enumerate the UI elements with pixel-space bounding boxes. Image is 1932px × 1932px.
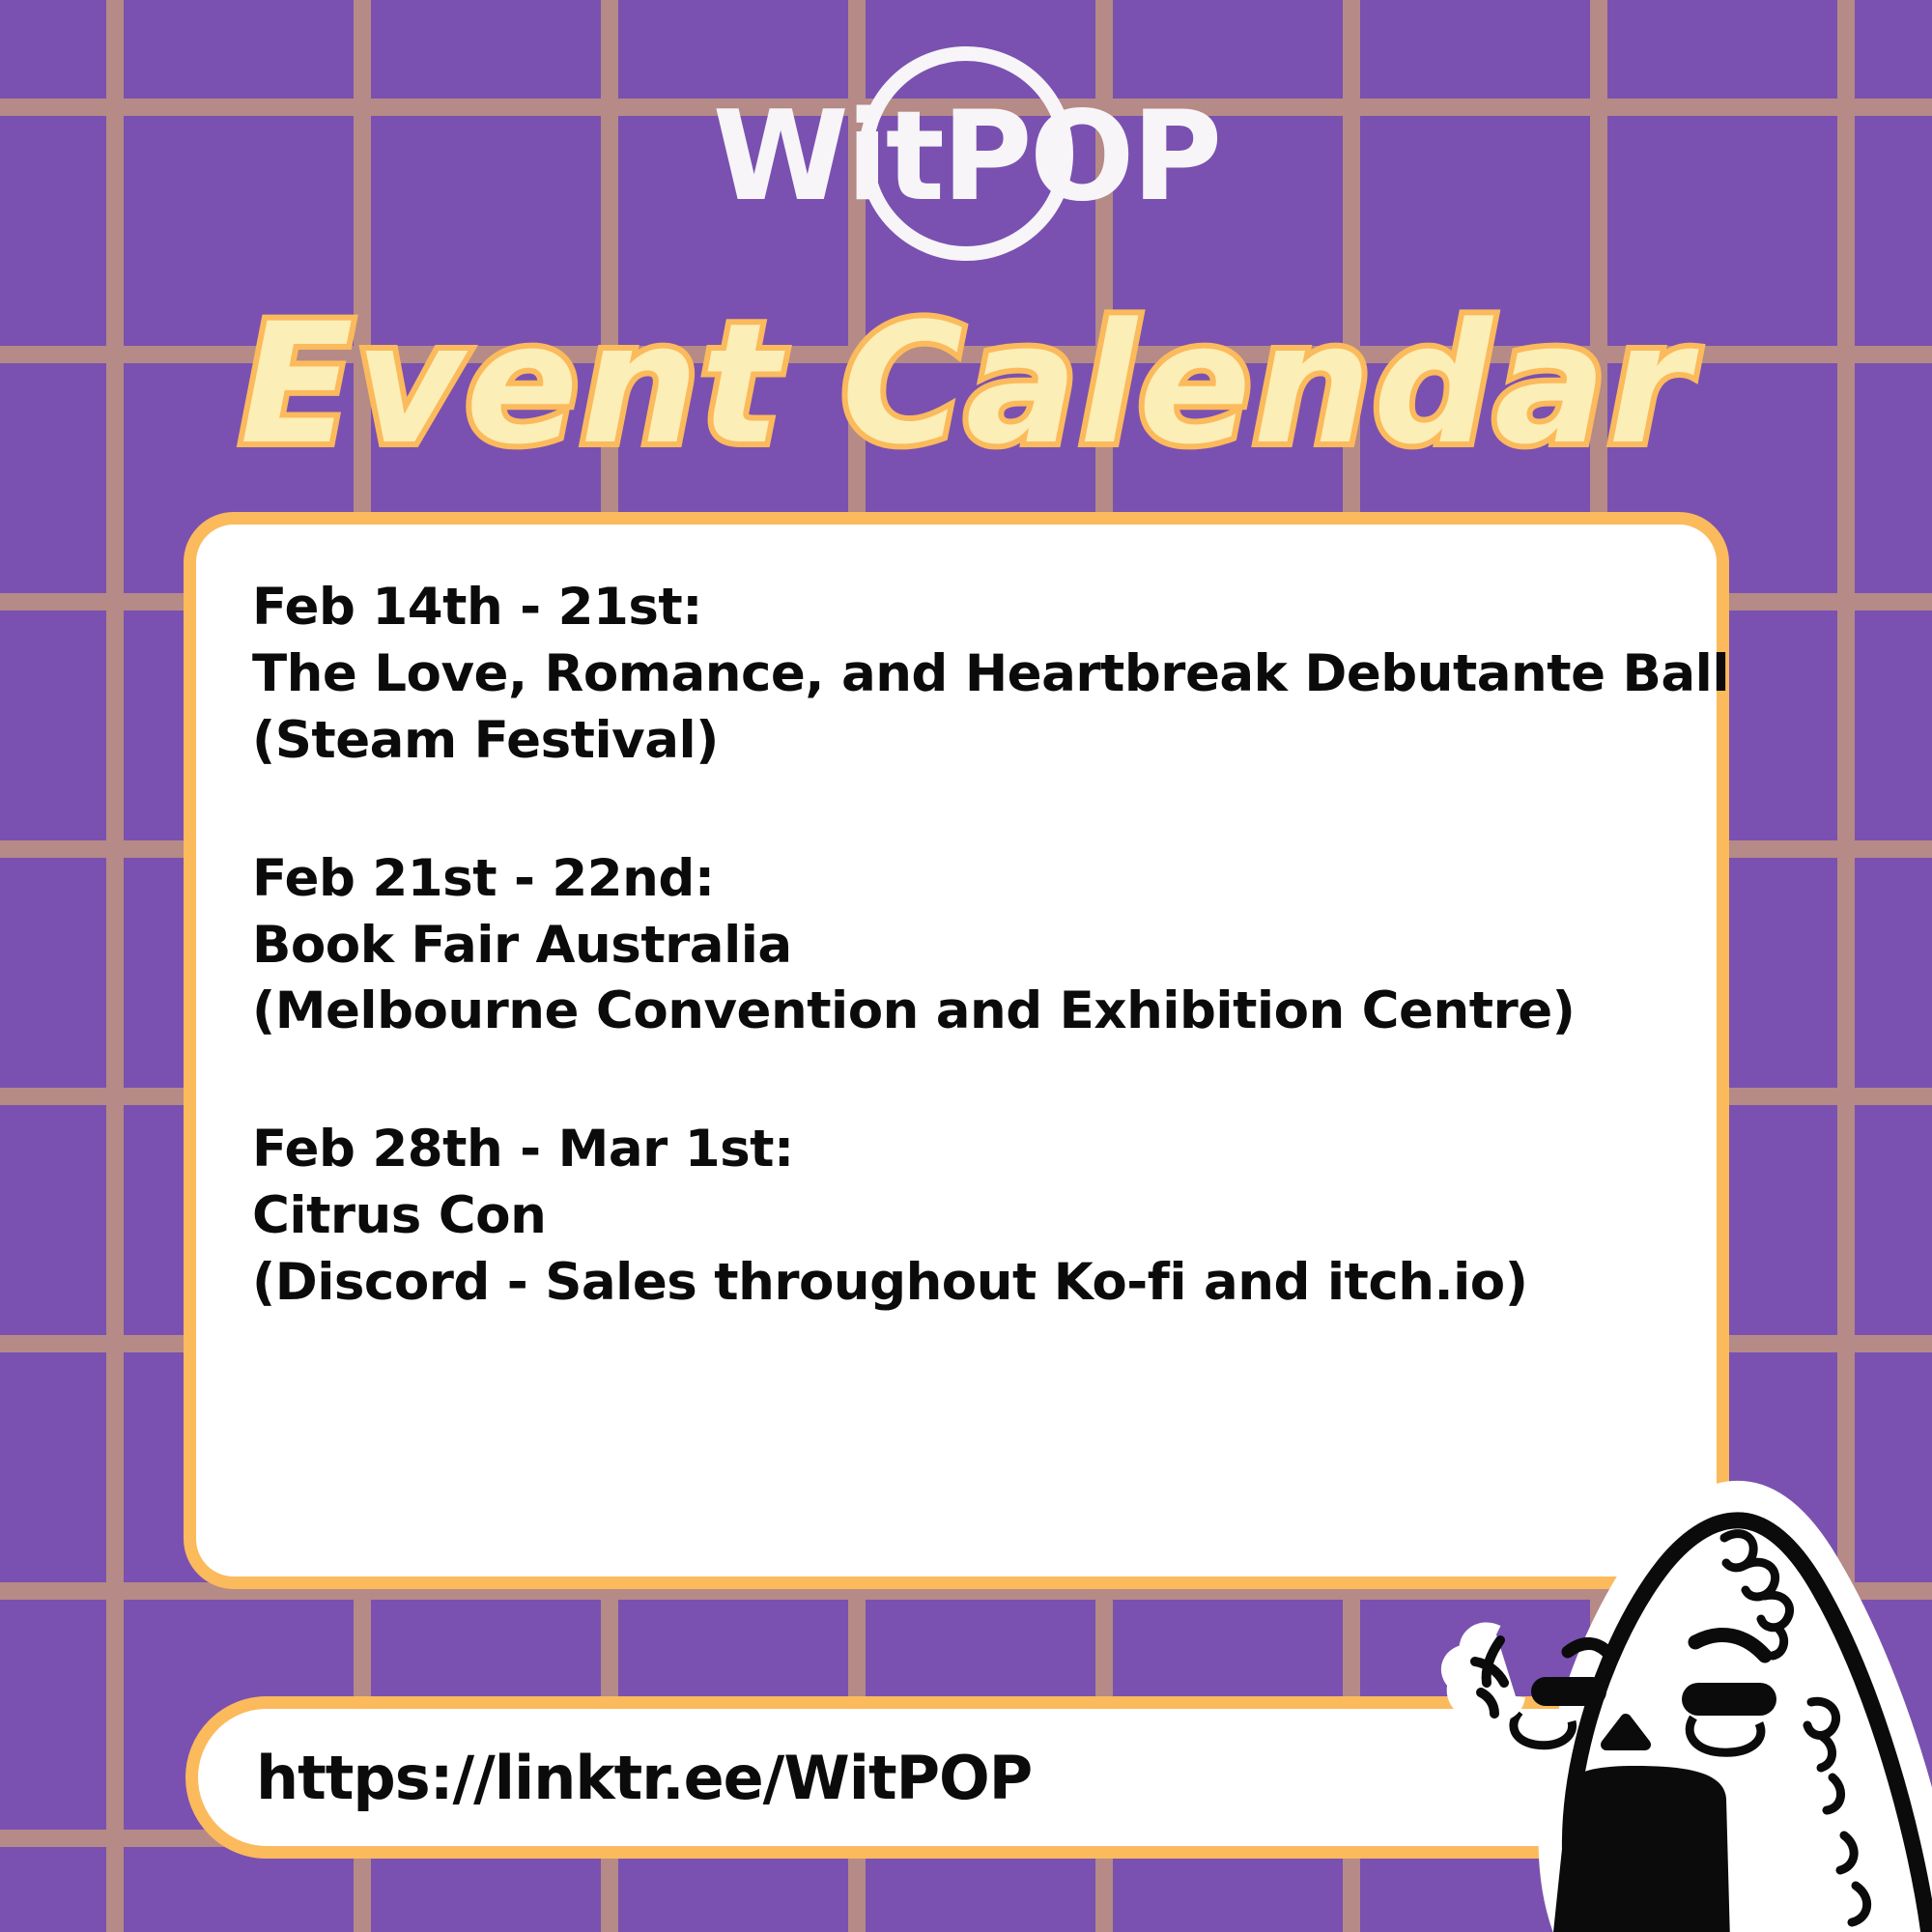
tear-splash-icon bbox=[1451, 1632, 1516, 1714]
eye-left-icon bbox=[1531, 1677, 1606, 1706]
event-item: Feb 14th - 21st: The Love, Romance, and … bbox=[252, 575, 1678, 775]
event-name: The Love, Romance, and Heartbreak Debuta… bbox=[252, 641, 1678, 708]
brand-logo-inner: WitPOP bbox=[715, 46, 1217, 269]
brand-logo[interactable]: WitPOP bbox=[0, 46, 1932, 269]
linktree-url[interactable]: https://linktr.ee/WitPOP bbox=[256, 1743, 1032, 1813]
event-dates: Feb 28th - Mar 1st: bbox=[252, 1117, 1678, 1183]
event-dates: Feb 21st - 22nd: bbox=[252, 846, 1678, 913]
crying-onigiri-mascot bbox=[1406, 1430, 1932, 1932]
tear-right-icon bbox=[1690, 1718, 1761, 1752]
events-list: Feb 14th - 21st: The Love, Romance, and … bbox=[252, 575, 1678, 1317]
events-card: Feb 14th - 21st: The Love, Romance, and … bbox=[184, 512, 1729, 1589]
event-venue: (Melbourne Convention and Exhibition Cen… bbox=[252, 979, 1678, 1045]
event-item: Feb 28th - Mar 1st: Citrus Con (Discord … bbox=[252, 1117, 1678, 1317]
onigiri-illustration bbox=[1406, 1430, 1932, 1932]
event-name: Book Fair Australia bbox=[252, 913, 1678, 980]
event-venue: (Steam Festival) bbox=[252, 708, 1678, 775]
brand-logo-text: WitPOP bbox=[713, 96, 1220, 219]
event-name: Citrus Con bbox=[252, 1183, 1678, 1250]
event-dates: Feb 14th - 21st: bbox=[252, 575, 1678, 641]
eye-right-icon bbox=[1682, 1683, 1776, 1716]
event-item: Feb 21st - 22nd: Book Fair Australia (Me… bbox=[252, 846, 1678, 1046]
mouth-icon bbox=[1552, 1766, 1730, 1932]
event-venue: (Discord - Sales throughout Ko-fi and it… bbox=[252, 1250, 1678, 1317]
poster-canvas: WitPOP Event Calendar Feb 14th - 21st: T… bbox=[0, 0, 1932, 1932]
